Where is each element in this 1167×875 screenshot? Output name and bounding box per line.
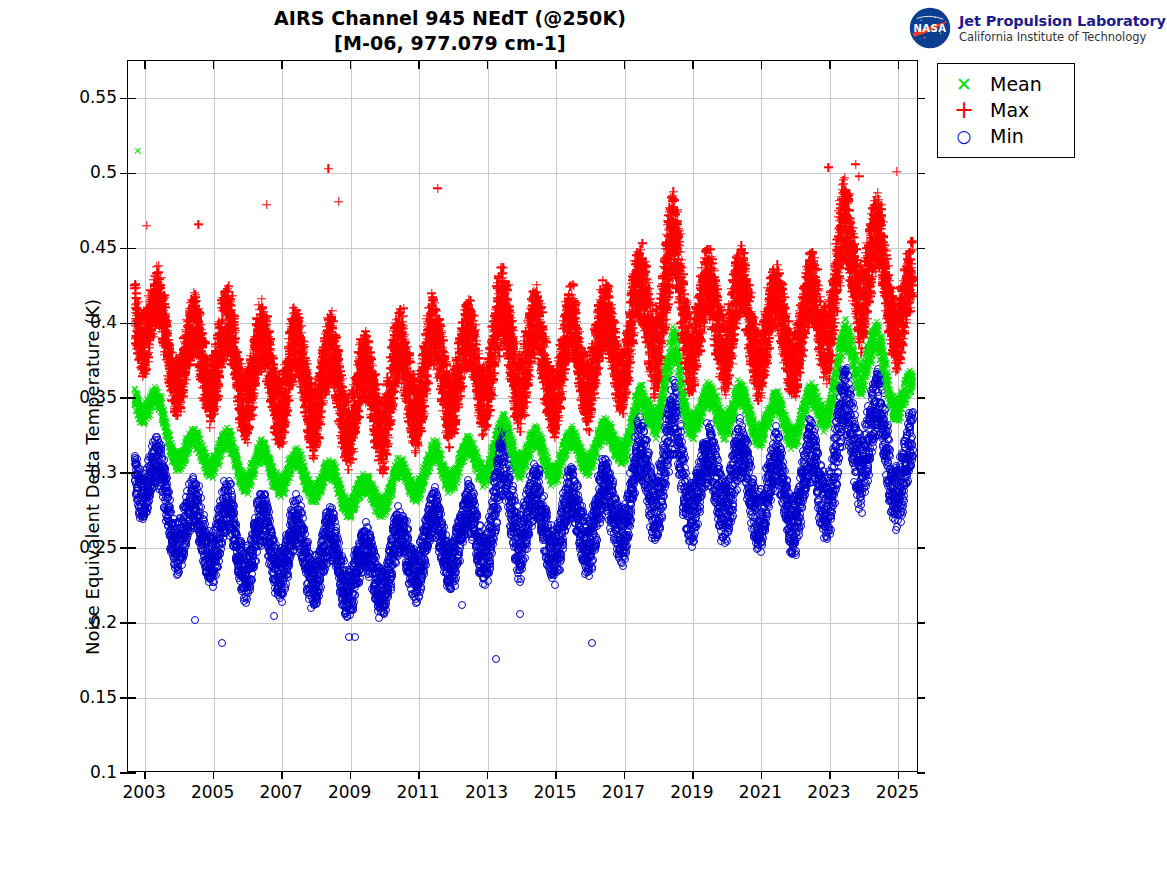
- data-point-mean: [395, 463, 403, 471]
- data-point-min: [511, 535, 519, 543]
- data-point-max: [478, 413, 487, 422]
- data-point-mean: [256, 448, 264, 456]
- data-point-mean: [287, 470, 295, 478]
- data-point-mean: [685, 423, 693, 431]
- data-point-mean: [506, 424, 514, 432]
- data-point-max: [733, 292, 742, 301]
- data-point-mean: [372, 493, 380, 501]
- data-point-max: [608, 317, 617, 326]
- data-point-min: [367, 539, 375, 547]
- data-point-max: [526, 357, 535, 366]
- data-point-max: [165, 364, 174, 373]
- data-point-max: [604, 300, 613, 309]
- data-point-max: [867, 226, 876, 235]
- data-point-mean: [341, 500, 349, 508]
- data-point-max: [365, 366, 374, 375]
- data-point-min: [298, 554, 306, 562]
- data-point-max: [738, 292, 747, 301]
- data-point-max: [837, 248, 846, 257]
- data-point-max: [841, 209, 850, 218]
- data-point-min: [222, 499, 230, 507]
- data-point-mean: [493, 430, 501, 438]
- data-point-min: [151, 479, 159, 487]
- data-point-mean: [291, 445, 299, 453]
- data-point-mean: [758, 420, 766, 428]
- data-point-min: [659, 501, 667, 509]
- data-point-max: [840, 203, 849, 212]
- data-point-max: [184, 323, 193, 332]
- data-point-max: [174, 367, 183, 376]
- data-point-max: [249, 392, 258, 401]
- data-point-min: [655, 489, 663, 497]
- data-point-mean: [576, 446, 584, 454]
- data-point-min: [450, 548, 458, 556]
- data-point-max: [557, 359, 566, 368]
- data-point-max: [902, 284, 911, 293]
- data-point-max: [444, 427, 453, 436]
- data-point-min: [682, 488, 690, 496]
- data-point-mean: [726, 425, 734, 433]
- data-point-min: [172, 535, 180, 543]
- data-point-max: [532, 281, 541, 290]
- data-point-mean: [715, 420, 723, 428]
- data-point-max: [336, 408, 345, 417]
- data-point-max: [346, 427, 355, 436]
- data-point-mean: [907, 374, 915, 382]
- data-point-max: [813, 314, 822, 323]
- data-point-min: [233, 543, 241, 551]
- data-point-max: [821, 353, 830, 362]
- data-point-mean: [386, 491, 394, 499]
- data-point-min: [354, 558, 362, 566]
- data-point-mean: [764, 419, 772, 427]
- data-point-mean: [800, 414, 808, 422]
- data-point-min: [202, 563, 210, 571]
- data-point-mean: [560, 440, 568, 448]
- data-point-max: [433, 339, 442, 348]
- data-point-max: [537, 363, 546, 372]
- data-point-mean: [831, 383, 839, 391]
- data-point-min: [761, 494, 769, 502]
- data-point-max: [736, 263, 745, 272]
- data-point-mean: [867, 359, 875, 367]
- data-point-mean: [537, 432, 545, 440]
- data-point-max: [527, 295, 536, 304]
- data-point-mean: [239, 474, 247, 482]
- data-point-mean: [306, 480, 314, 488]
- data-point-min: [339, 601, 347, 609]
- data-point-min: [661, 452, 669, 460]
- data-point-mean: [145, 400, 153, 408]
- data-point-max: [670, 217, 679, 226]
- data-point-min: [482, 545, 490, 553]
- data-point-min: [184, 510, 192, 518]
- data-point-mean: [599, 425, 607, 433]
- data-point-mean: [626, 425, 634, 433]
- data-point-mean: [243, 478, 251, 486]
- data-point-max: [446, 394, 455, 403]
- data-point-max: [193, 336, 202, 345]
- data-point-max: [214, 372, 223, 381]
- data-point-min: [156, 470, 164, 478]
- data-point-max: [360, 376, 369, 385]
- data-point-max: [801, 294, 810, 303]
- data-point-min: [179, 503, 187, 511]
- data-point-max: [246, 409, 255, 418]
- data-point-max: [770, 313, 779, 322]
- data-point-max: [394, 362, 403, 371]
- data-point-max: [278, 431, 287, 440]
- data-point-max: [588, 366, 597, 375]
- data-point-mean: [427, 452, 435, 460]
- data-point-max: [273, 435, 282, 444]
- data-point-max: [634, 269, 643, 278]
- data-point-max: [889, 341, 898, 350]
- data-point-min: [625, 490, 633, 498]
- data-point-max: [569, 319, 578, 328]
- data-point-min: [482, 555, 490, 563]
- data-point-mean: [273, 481, 281, 489]
- data-point-max: [481, 411, 490, 420]
- data-point-max: [741, 261, 750, 270]
- data-point-mean: [831, 390, 839, 398]
- data-point-mean: [899, 399, 907, 407]
- data-point-min: [685, 532, 693, 540]
- data-point-max: [453, 381, 462, 390]
- data-point-min: [665, 402, 673, 410]
- data-point-max: [138, 328, 147, 337]
- data-point-max: [611, 345, 620, 354]
- data-point-min: [309, 588, 317, 596]
- data-point-max: [873, 241, 882, 250]
- data-point-max: [766, 318, 775, 327]
- data-point-max: [209, 405, 218, 414]
- data-point-min: [261, 527, 269, 535]
- data-point-max: [646, 309, 655, 318]
- data-point-min: [885, 451, 893, 459]
- data-point-max: [595, 331, 604, 340]
- data-point-max: [141, 351, 150, 360]
- data-point-max: [555, 374, 564, 383]
- data-point-max: [581, 390, 590, 399]
- data-point-max: [325, 356, 334, 365]
- data-point-min: [379, 595, 387, 603]
- data-point-min: [562, 484, 570, 492]
- data-point-max: [598, 276, 607, 285]
- data-point-max: [809, 290, 818, 299]
- data-point-min: [395, 518, 403, 526]
- data-point-min: [209, 534, 217, 542]
- data-point-mean: [247, 482, 255, 490]
- data-point-mean: [730, 404, 738, 412]
- data-point-max: [166, 369, 175, 378]
- data-point-mean: [217, 436, 225, 444]
- data-point-max: [235, 415, 244, 424]
- data-point-mean: [494, 432, 502, 440]
- data-point-min: [550, 526, 558, 534]
- data-point-max: [170, 383, 179, 392]
- data-point-max: [662, 259, 671, 268]
- data-point-mean: [657, 400, 665, 408]
- data-point-mean: [167, 450, 175, 458]
- data-point-min: [199, 525, 207, 533]
- data-point-max: [840, 222, 849, 231]
- data-point-min: [217, 545, 225, 553]
- data-point-min: [645, 495, 653, 503]
- data-point-max: [781, 304, 790, 313]
- data-point-mean: [564, 441, 572, 449]
- data-point-mean: [498, 429, 506, 437]
- data-point-max: [588, 363, 597, 372]
- data-point-max: [373, 396, 382, 405]
- data-point-mean: [889, 409, 897, 417]
- data-point-max: [716, 303, 725, 312]
- data-point-max: [510, 385, 519, 394]
- data-point-mean: [833, 357, 841, 365]
- data-point-max: [205, 385, 214, 394]
- data-point-max: [696, 329, 705, 338]
- data-point-max: [186, 308, 195, 317]
- data-point-mean: [572, 432, 580, 440]
- data-point-max: [737, 271, 746, 280]
- data-point-mean: [296, 452, 304, 460]
- data-point-min: [526, 492, 534, 500]
- data-point-mean: [293, 455, 301, 463]
- data-point-max: [707, 308, 716, 317]
- data-point-max: [526, 336, 535, 345]
- data-point-min: [579, 557, 587, 565]
- data-point-mean: [358, 490, 366, 498]
- data-point-max: [399, 383, 408, 392]
- data-point-max: [243, 438, 252, 447]
- data-point-min: [502, 439, 510, 447]
- data-point-mean: [651, 422, 659, 430]
- data-point-min: [745, 488, 753, 496]
- data-point-min: [891, 498, 899, 506]
- data-point-max: [367, 355, 376, 364]
- data-point-max: [350, 392, 359, 401]
- data-point-mean: [824, 417, 832, 425]
- data-point-mean: [530, 443, 538, 451]
- data-point-min: [307, 567, 315, 575]
- data-point-max: [880, 241, 889, 250]
- data-point-max: [348, 391, 357, 400]
- data-point-max: [496, 293, 505, 302]
- data-point-max: [274, 412, 283, 421]
- data-point-max: [383, 414, 392, 423]
- data-point-max: [434, 316, 443, 325]
- data-point-min: [431, 514, 439, 522]
- data-point-mean: [454, 468, 462, 476]
- nasa-meatball-icon: NASA: [908, 6, 952, 50]
- data-point-mean: [656, 418, 664, 426]
- data-point-mean: [893, 415, 901, 423]
- data-point-mean: [720, 435, 728, 443]
- data-point-min: [376, 564, 384, 572]
- data-point-min: [654, 516, 662, 524]
- data-point-max: [576, 361, 585, 370]
- data-point-min: [365, 553, 373, 561]
- data-point-mean: [303, 482, 311, 490]
- data-point-min: [361, 560, 369, 568]
- data-point-mean: [451, 468, 459, 476]
- data-point-mean: [759, 422, 767, 430]
- data-point-mean: [365, 483, 373, 491]
- data-point-min: [157, 479, 165, 487]
- data-point-mean: [243, 475, 251, 483]
- data-point-min: [251, 557, 259, 565]
- data-point-mean: [145, 402, 153, 410]
- data-point-mean: [591, 445, 599, 453]
- data-point-mean: [591, 440, 599, 448]
- data-point-mean: [829, 405, 837, 413]
- data-point-max: [285, 354, 294, 363]
- data-point-min: [318, 544, 326, 552]
- data-point-min: [191, 496, 199, 504]
- data-point-mean: [388, 476, 396, 484]
- data-point-mean: [431, 444, 439, 452]
- data-point-max: [284, 369, 293, 378]
- data-point-max: [380, 412, 389, 421]
- data-point-max: [239, 383, 248, 392]
- data-point-min: [865, 415, 873, 423]
- data-point-max: [186, 313, 195, 322]
- data-point-max: [497, 317, 506, 326]
- data-point-mean: [579, 447, 587, 455]
- data-point-min: [404, 567, 412, 575]
- data-point-min: [360, 527, 368, 535]
- data-point-min: [396, 515, 404, 523]
- data-point-max: [491, 348, 500, 357]
- data-point-min: [853, 481, 861, 489]
- data-point-min: [433, 533, 441, 541]
- data-point-min: [441, 556, 449, 564]
- data-point-mean: [136, 416, 144, 424]
- data-point-mean: [408, 476, 416, 484]
- data-point-max: [674, 264, 683, 273]
- data-point-min: [572, 497, 580, 505]
- data-point-max: [669, 263, 678, 272]
- data-point-max: [288, 316, 297, 325]
- data-point-max: [446, 410, 455, 419]
- data-point-max: [206, 381, 215, 390]
- data-point-min: [901, 443, 909, 451]
- data-point-max: [427, 302, 436, 311]
- data-point-min: [453, 561, 461, 569]
- data-point-min: [765, 464, 773, 472]
- data-point-max: [175, 400, 184, 409]
- data-point-mean: [397, 470, 405, 478]
- data-point-mean: [606, 429, 614, 437]
- data-point-min: [365, 554, 373, 562]
- data-point-mean: [447, 483, 455, 491]
- data-point-min: [652, 496, 660, 504]
- data-point-max: [497, 269, 506, 278]
- data-point-mean: [787, 424, 795, 432]
- data-point-max: [344, 439, 353, 448]
- data-point-max: [458, 346, 467, 355]
- data-point-mean: [685, 417, 693, 425]
- data-point-max: [521, 328, 530, 337]
- data-point-min: [627, 516, 635, 524]
- data-point-min: [347, 582, 355, 590]
- data-point-max: [732, 279, 741, 288]
- data-point-max: [680, 328, 689, 337]
- data-point-max: [677, 273, 686, 282]
- data-point-max: [231, 370, 240, 379]
- data-point-mean: [211, 457, 219, 465]
- data-point-mean: [286, 469, 294, 477]
- data-point-max: [569, 315, 578, 324]
- data-point-min: [644, 451, 652, 459]
- data-point-max: [594, 364, 603, 373]
- data-point-max: [437, 381, 446, 390]
- data-point-min: [839, 415, 847, 423]
- data-point-min: [414, 580, 422, 588]
- data-point-min: [516, 540, 524, 548]
- data-point-mean: [489, 457, 497, 465]
- data-point-min: [371, 565, 379, 573]
- data-point-min: [730, 471, 738, 479]
- data-point-max: [804, 263, 813, 272]
- data-point-mean: [377, 501, 385, 509]
- data-point-max: [778, 349, 787, 358]
- data-point-min: [628, 478, 636, 486]
- data-point-max: [713, 293, 722, 302]
- data-point-mean: [776, 399, 784, 407]
- data-point-mean: [806, 387, 814, 395]
- data-point-mean: [535, 443, 543, 451]
- data-point-mean: [332, 467, 340, 475]
- data-point-min: [285, 529, 293, 537]
- data-point-min: [279, 552, 287, 560]
- data-point-min: [357, 531, 365, 539]
- data-point-mean: [202, 461, 210, 469]
- data-point-mean: [146, 402, 154, 410]
- data-point-min: [138, 477, 146, 485]
- data-point-max: [858, 311, 867, 320]
- data-point-max: [861, 274, 870, 283]
- data-point-max: [269, 360, 278, 369]
- data-point-max: [278, 381, 287, 390]
- data-point-max: [751, 332, 760, 341]
- data-point-max: [373, 426, 382, 435]
- data-point-min: [318, 537, 326, 545]
- data-point-mean: [288, 455, 296, 463]
- data-point-min: [456, 544, 464, 552]
- data-point-mean: [447, 487, 455, 495]
- data-point-min: [408, 590, 416, 598]
- data-point-mean: [512, 466, 520, 474]
- data-point-min: [191, 481, 199, 489]
- data-point-max: [607, 344, 616, 353]
- data-point-min: [814, 471, 822, 479]
- data-point-max: [512, 339, 521, 348]
- data-point-mean: [791, 440, 799, 448]
- data-point-max: [253, 327, 262, 336]
- data-point-min: [677, 420, 685, 428]
- data-point-max: [644, 360, 653, 369]
- data-point-mean: [704, 381, 712, 389]
- data-point-max: [197, 370, 206, 379]
- data-point-min: [334, 561, 342, 569]
- data-point-mean: [318, 473, 326, 481]
- data-point-max: [158, 309, 167, 318]
- data-point-max: [604, 311, 613, 320]
- data-point-mean: [446, 485, 454, 493]
- data-point-max: [592, 368, 601, 377]
- data-point-min: [479, 566, 487, 574]
